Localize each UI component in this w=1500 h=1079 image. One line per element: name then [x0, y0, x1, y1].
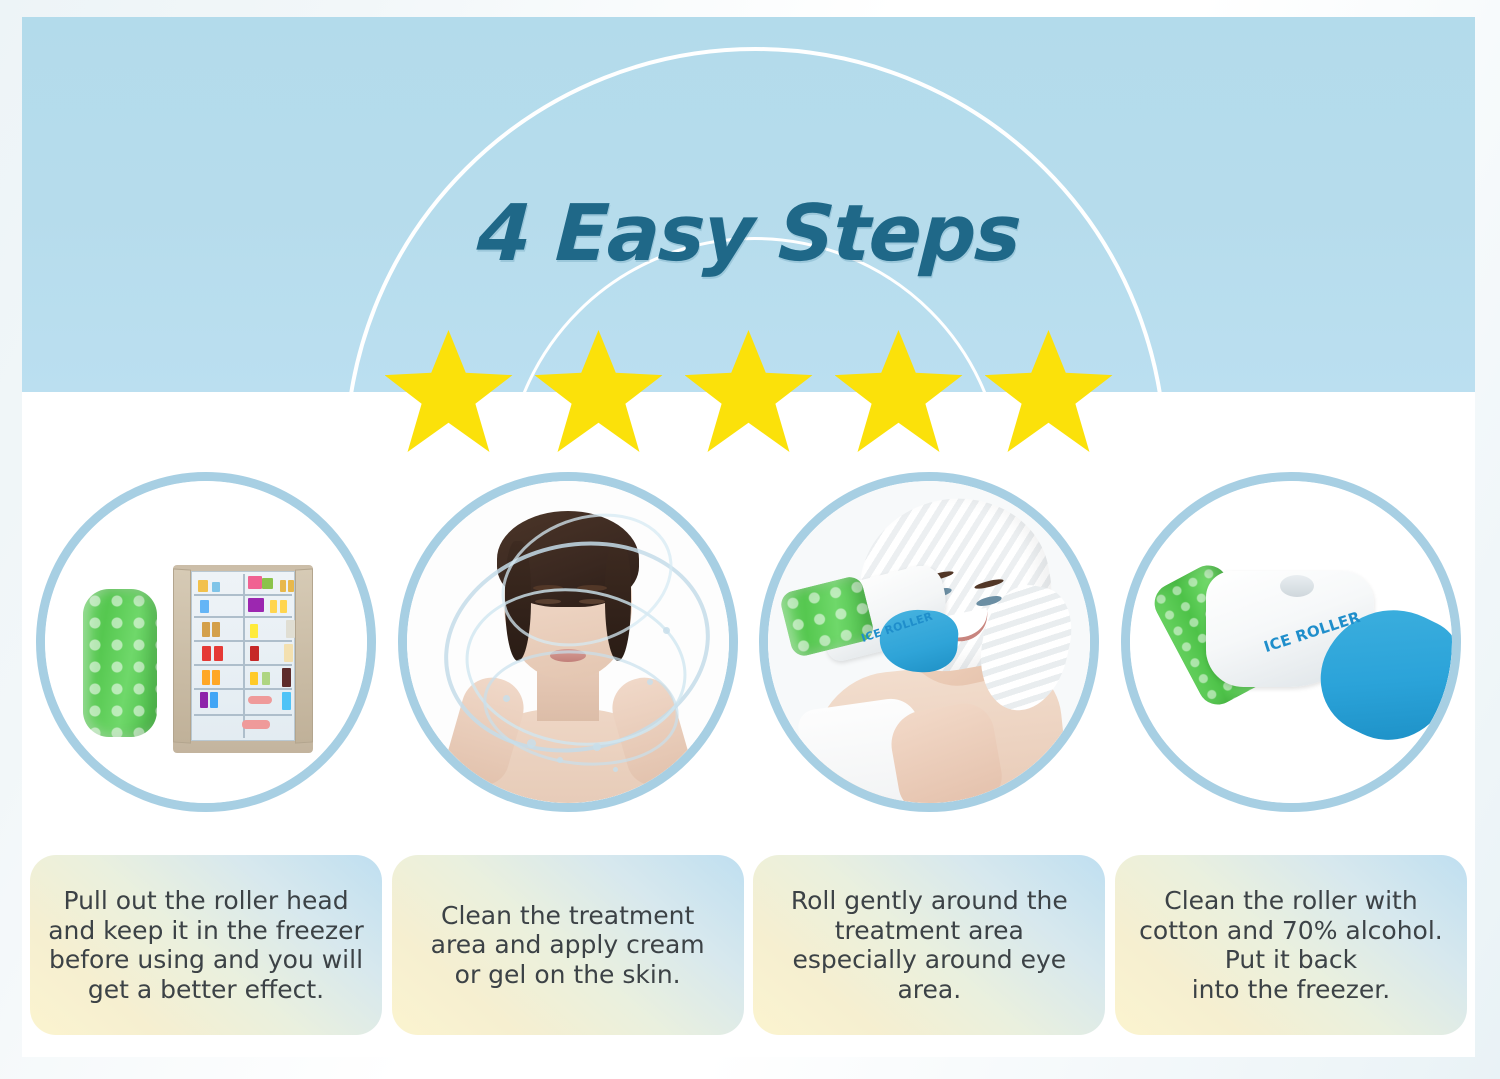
step-3-photo-ring: ICE ROLLER: [759, 472, 1099, 812]
woman-washing-face-photo: [407, 481, 729, 803]
step-4-caption-box: Clean the roller with cotton and 70% alc…: [1115, 855, 1467, 1035]
step-3-caption-text: Roll gently around the treatment area es…: [791, 886, 1068, 1004]
step-1-photo-ring: [36, 472, 376, 812]
ice-roller-handle: ICE ROLLER: [1206, 561, 1452, 751]
step-2-photo-ring: [398, 472, 738, 812]
roller-socket: [1280, 575, 1314, 597]
ice-roller-product-photo: ICE ROLLER: [1130, 481, 1452, 803]
page-title: 4 Easy Steps: [22, 195, 1475, 273]
roller-head-and-freezer-photo: [45, 481, 367, 803]
step-1-caption-box: Pull out the roller head and keep it in …: [30, 855, 382, 1035]
step-2-caption-box: Clean the treatment area and apply cream…: [392, 855, 744, 1035]
step-3-caption-box: Roll gently around the treatment area es…: [753, 855, 1105, 1035]
infographic-page: 4 Easy Steps: [0, 0, 1500, 1079]
step-1-caption-text: Pull out the roller head and keep it in …: [48, 886, 364, 1004]
refrigerator-illustration: [173, 565, 313, 753]
step-4-caption-text: Clean the roller with cotton and 70% alc…: [1139, 886, 1443, 1004]
step-caption-row: Pull out the roller head and keep it in …: [22, 855, 1475, 1057]
fridge-door-right: [295, 568, 313, 743]
header-banner: 4 Easy Steps: [22, 17, 1475, 392]
fridge-door-left: [173, 568, 191, 743]
step-2-caption-text: Clean the treatment area and apply cream…: [431, 901, 705, 990]
content-card: 4 Easy Steps: [22, 17, 1475, 1057]
step-4-photo-ring: ICE ROLLER: [1121, 472, 1461, 812]
woman-using-ice-roller-photo: ICE ROLLER: [768, 481, 1090, 803]
roller-head-icon: [83, 589, 157, 737]
fridge-interior: [191, 571, 295, 741]
